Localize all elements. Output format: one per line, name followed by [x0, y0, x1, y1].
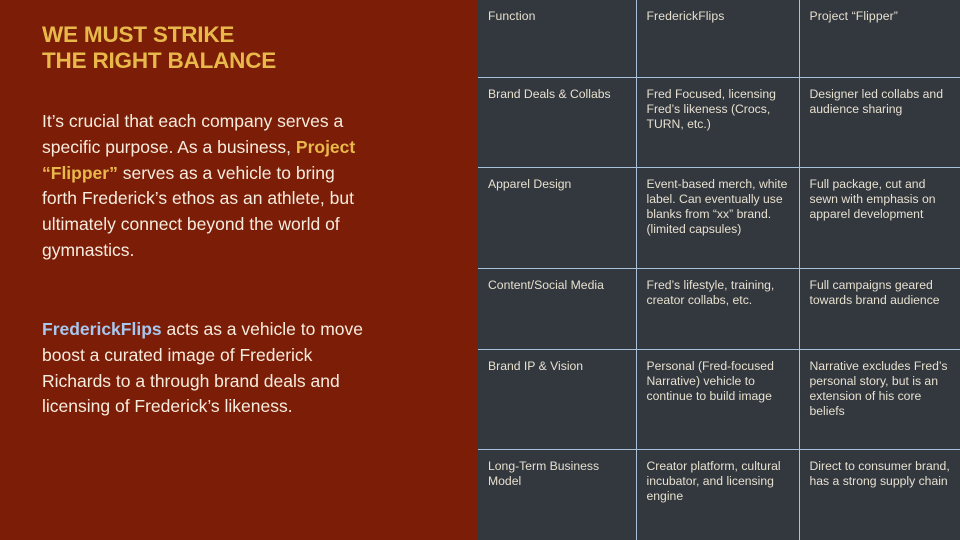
page-title-line-2: THE RIGHT BALANCE: [42, 48, 442, 74]
slide-root: WE MUST STRIKE THE RIGHT BALANCE It’s cr…: [0, 0, 960, 540]
table-header-row: Function FrederickFlips Project “Flipper…: [478, 0, 960, 77]
cell-function: Brand IP & Vision: [478, 349, 636, 449]
column-header-function: Function: [478, 0, 636, 77]
table-row: Brand Deals & Collabs Fred Focused, lice…: [478, 77, 960, 167]
inline-highlight-frederickflips: FrederickFlips: [42, 319, 162, 339]
cell-project-flipper: Direct to consumer brand, has a strong s…: [799, 449, 960, 540]
cell-frederickflips: Event-based merch, white label. Can even…: [636, 167, 799, 268]
cell-project-flipper: Full campaigns geared towards brand audi…: [799, 268, 960, 349]
cell-frederickflips: Fred Focused, licensing Fred’s likeness …: [636, 77, 799, 167]
table-row: Content/Social Media Fred’s lifestyle, t…: [478, 268, 960, 349]
cell-function: Brand Deals & Collabs: [478, 77, 636, 167]
cell-function: Long-Term Business Model: [478, 449, 636, 540]
comparison-table: Function FrederickFlips Project “Flipper…: [478, 0, 960, 540]
cell-frederickflips: Creator platform, cultural incubator, an…: [636, 449, 799, 540]
cell-project-flipper: Narrative excludes Fred’s personal story…: [799, 349, 960, 449]
intro-paragraph-frederickflips: FrederickFlips acts as a vehicle to move…: [42, 317, 372, 420]
cell-function: Content/Social Media: [478, 268, 636, 349]
cell-project-flipper: Designer led collabs and audience sharin…: [799, 77, 960, 167]
left-content-panel: WE MUST STRIKE THE RIGHT BALANCE It’s cr…: [0, 0, 478, 540]
comparison-table-panel: Function FrederickFlips Project “Flipper…: [478, 0, 960, 540]
cell-frederickflips: Personal (Fred-focused Narrative) vehicl…: [636, 349, 799, 449]
column-header-project-flipper: Project “Flipper”: [799, 0, 960, 77]
cell-frederickflips: Fred’s lifestyle, training, creator coll…: [636, 268, 799, 349]
table-header: Function FrederickFlips Project “Flipper…: [478, 0, 960, 77]
page-title-line-1: WE MUST STRIKE: [42, 22, 442, 48]
cell-function: Apparel Design: [478, 167, 636, 268]
table-body: Brand Deals & Collabs Fred Focused, lice…: [478, 77, 960, 540]
column-header-frederickflips: FrederickFlips: [636, 0, 799, 77]
table-row: Apparel Design Event-based merch, white …: [478, 167, 960, 268]
table-row: Long-Term Business Model Creator platfor…: [478, 449, 960, 540]
page-title: WE MUST STRIKE THE RIGHT BALANCE: [42, 22, 442, 74]
cell-project-flipper: Full package, cut and sewn with emphasis…: [799, 167, 960, 268]
intro-paragraph-project-flipper: It’s crucial that each company serves a …: [42, 109, 372, 264]
table-row: Brand IP & Vision Personal (Fred-focused…: [478, 349, 960, 449]
